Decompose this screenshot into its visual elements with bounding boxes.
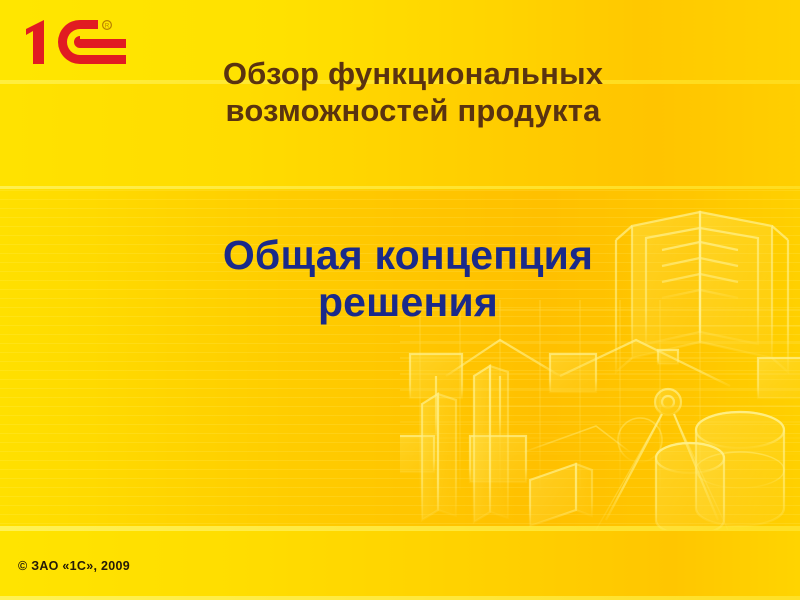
slide-heading: Общая концепция решения bbox=[120, 232, 696, 325]
band-divider-footer bbox=[0, 526, 800, 531]
presentation-slide: R Обзор функциональных возможностей прод… bbox=[0, 0, 800, 600]
slide-heading-line2: решения bbox=[120, 279, 696, 326]
copyright-footer: © ЗАО «1С», 2009 bbox=[18, 559, 130, 573]
slide-title: Обзор функциональных возможностей продук… bbox=[130, 56, 696, 129]
svg-text:R: R bbox=[105, 24, 110, 30]
band-divider-upper bbox=[0, 186, 800, 189]
registered-mark-icon: R bbox=[103, 21, 112, 30]
logo-1c-icon: R bbox=[14, 16, 126, 74]
band-divider-bottom bbox=[0, 596, 800, 600]
slide-heading-line1: Общая концепция bbox=[120, 232, 696, 279]
